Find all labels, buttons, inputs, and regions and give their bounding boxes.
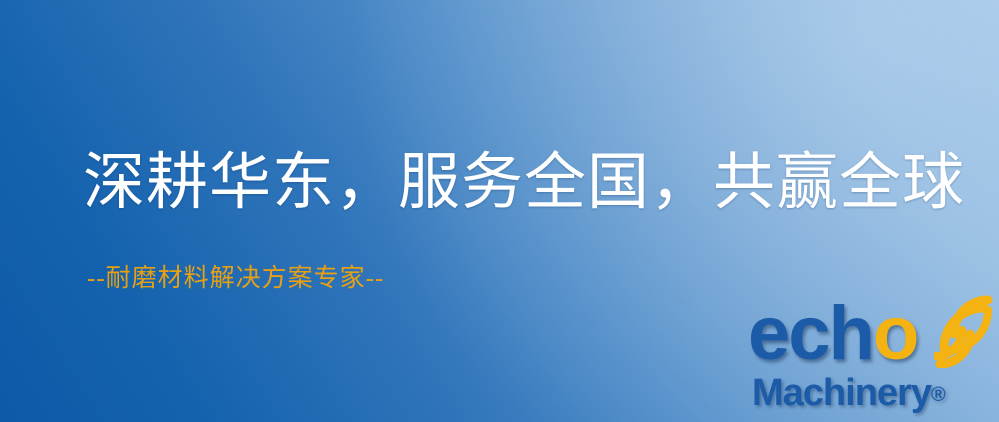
logo-wordmark: echo: [748, 296, 917, 372]
promo-banner: 深耕华东，服务全国，共赢全球 --耐磨材料解决方案专家-- echo Machi…: [0, 0, 999, 422]
logo-text-o: o: [873, 291, 917, 376]
logo-subtext-label: Machinery: [752, 372, 931, 414]
banner-subtitle: --耐磨材料解决方案专家--: [87, 266, 384, 291]
logo-subtext: Machinery®: [752, 374, 946, 412]
echo-waves-icon: [934, 294, 999, 368]
echo-machinery-logo: echo Machinery®: [748, 296, 999, 422]
logo-text-ech: ech: [748, 291, 873, 376]
banner-headline: 深耕华东，服务全国，共赢全球: [83, 152, 965, 214]
registered-trademark-icon: ®: [931, 384, 946, 406]
